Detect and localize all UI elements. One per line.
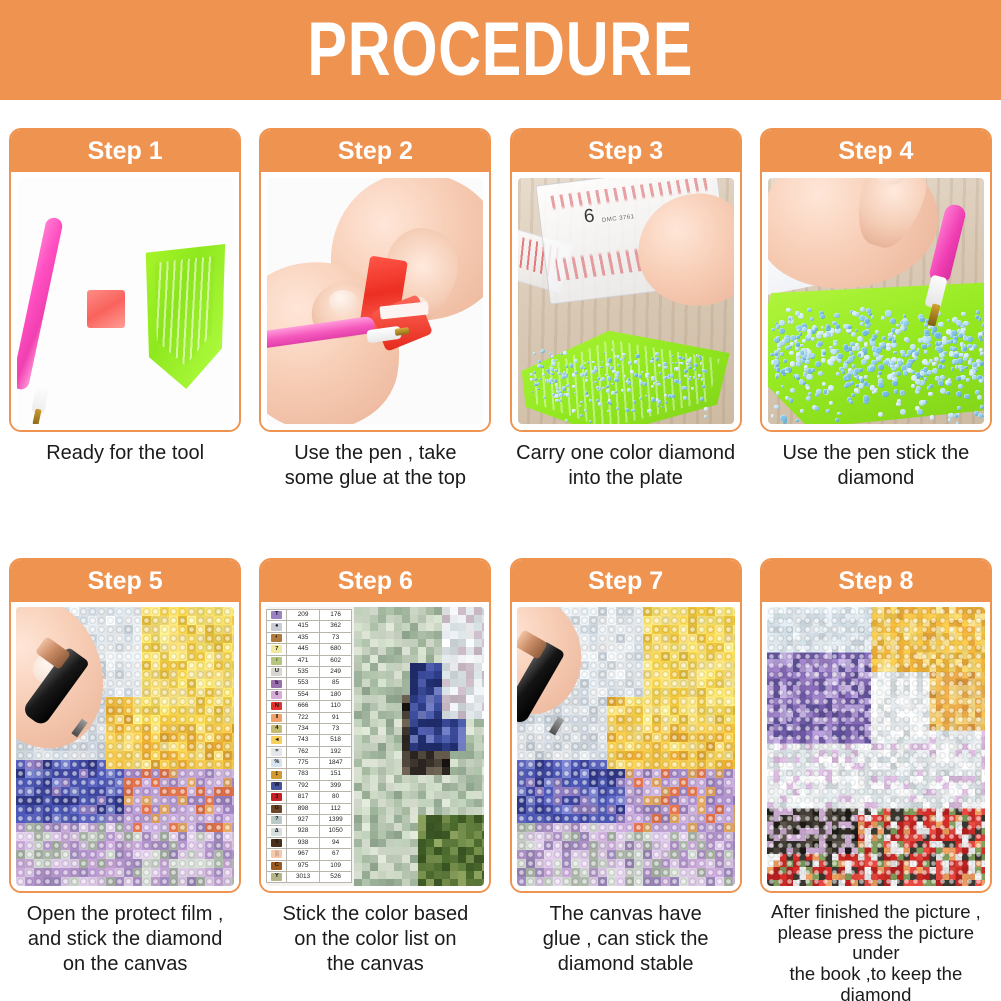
step-7-badge: Step 7: [512, 560, 740, 602]
color-symbol-icon: ♪: [271, 657, 282, 665]
color-swatch-cell: 3: [267, 792, 287, 803]
color-legend-table: T209176●415362◐435737445680♪471602U53524…: [266, 609, 352, 883]
step-4-image-area: [762, 172, 990, 430]
color-swatch-cell: 4: [267, 723, 287, 734]
diamond-count-cell: 526: [319, 871, 352, 882]
page-header-banner: PROCEDURE: [0, 0, 1001, 100]
steps-grid: Step 1 Ready for the tool: [0, 100, 1001, 1001]
diamond-count-cell: 73: [319, 632, 352, 643]
dmc-code-cell: 775: [287, 758, 320, 769]
pour-diamonds-into-tray-photo: 6 DMC 3761: [518, 178, 734, 424]
color-legend-row: G898112: [267, 803, 352, 814]
color-swatch-cell: ◐: [267, 632, 287, 643]
pink-drill-pen-icon: [17, 216, 64, 391]
color-swatch-cell: ‡: [267, 769, 287, 780]
dmc-code-cell: 938: [287, 837, 320, 848]
diamond-count-cell: 399: [319, 780, 352, 791]
color-symbol-icon: ●: [271, 623, 282, 631]
step-card-1: Step 1 Ready for the tool: [0, 128, 250, 491]
color-swatch-cell: ●: [267, 621, 287, 632]
color-symbol-icon: W: [271, 782, 282, 790]
color-swatch-cell: ?: [267, 815, 287, 826]
color-symbol-icon: T: [271, 611, 282, 619]
color-symbol-icon: ◐: [271, 634, 282, 642]
dmc-code-cell: 666: [287, 701, 320, 712]
color-symbol-icon: N: [271, 702, 282, 710]
tools-pen-glue-tray-photo: [17, 178, 233, 424]
dmc-code-cell: 209: [287, 610, 320, 621]
diamond-count-cell: 362: [319, 621, 352, 632]
color-legend-row: %7751847: [267, 758, 352, 769]
page-title: PROCEDURE: [308, 12, 694, 88]
dmc-code-cell: 734: [287, 723, 320, 734]
color-symbol-icon: 4: [271, 725, 282, 733]
dmc-code-cell: 435: [287, 632, 320, 643]
color-swatch-cell: U: [267, 666, 287, 677]
color-legend-row: N666110: [267, 701, 352, 712]
diamond-count-cell: 180: [319, 689, 352, 700]
step-card-6: Step 6 T209176●415362◐435737445680♪47160…: [250, 558, 500, 1001]
step-2-card: Step 2: [259, 128, 491, 432]
dmc-code-cell: 554: [287, 689, 320, 700]
step-4-badge-label: Step 4: [838, 139, 913, 164]
step-8-badge: Step 8: [762, 560, 990, 602]
step-1-badge-label: Step 1: [88, 139, 163, 164]
step-7-badge-label: Step 7: [588, 569, 663, 594]
step-6-caption: Stick the color based on the color list …: [256, 902, 494, 978]
step-6-badge: Step 6: [261, 560, 489, 602]
steps-row-bottom: Step 5 Open the pro: [0, 558, 1001, 1001]
pen-picking-diamond-photo: [768, 178, 984, 424]
dmc-code-cell: 783: [287, 769, 320, 780]
color-symbol-icon: 7: [271, 645, 282, 653]
steps-row-top: Step 1 Ready for the tool: [0, 128, 1001, 491]
hands-pen-glue-photo: [267, 178, 483, 424]
diamond-count-cell: 1050: [319, 826, 352, 837]
dmc-code-cell: 817: [287, 792, 320, 803]
step-2-caption: Use the pen , take some glue at the top: [256, 441, 494, 491]
step-card-2: Step 2: [250, 128, 500, 491]
step-6-card: Step 6 T209176●415362◐435737445680♪47160…: [259, 558, 491, 893]
color-symbol-icon: ∆: [271, 828, 282, 836]
color-swatch-cell: 6: [267, 689, 287, 700]
diamond-count-cell: 1847: [319, 758, 352, 769]
step-1-caption: Ready for the tool: [6, 441, 244, 466]
color-swatch-cell: ░: [267, 849, 287, 860]
color-legend-row: Y3013526: [267, 871, 352, 882]
diamond-count-cell: 176: [319, 610, 352, 621]
dmc-code-cell: 553: [287, 678, 320, 689]
finished-diamond-painting-photo: [767, 607, 985, 886]
color-swatch-cell: Y: [267, 871, 287, 882]
dmc-code-cell: 967: [287, 849, 320, 860]
color-symbol-icon: %: [271, 759, 282, 767]
step-4-caption: Use the pen stick the diamond: [757, 441, 995, 491]
diamond-count-cell: 91: [319, 712, 352, 723]
color-symbol-icon: G: [271, 805, 282, 813]
diamond-count-cell: 112: [319, 803, 352, 814]
color-symbol-icon: C: [271, 862, 282, 870]
dmc-code-cell: 762: [287, 746, 320, 757]
color-legend-row: U535249: [267, 666, 352, 677]
color-legend-row: ◄743518: [267, 735, 352, 746]
step-3-badge-label: Step 3: [588, 139, 663, 164]
step-2-badge: Step 2: [261, 130, 489, 172]
color-symbol-icon: =: [271, 748, 282, 756]
color-swatch-cell: ‖: [267, 712, 287, 723]
step-card-4: Step 4: [751, 128, 1001, 491]
pen-placing-diamond-photo: [517, 607, 735, 886]
step-4-card: Step 4: [760, 128, 992, 432]
diamond-count-cell: 192: [319, 746, 352, 757]
color-swatch-cell: ◄: [267, 735, 287, 746]
color-legend-row: ∆9281050: [267, 826, 352, 837]
color-symbol-icon: 3: [271, 793, 282, 801]
step-7-card: Step 7: [510, 558, 742, 893]
color-legend-row: ◐43573: [267, 632, 352, 643]
step-6-image-area: T209176●415362◐435737445680♪471602U53524…: [261, 602, 489, 891]
step-5-card: Step 5: [9, 558, 241, 893]
dmc-code-cell: 928: [287, 826, 320, 837]
glue-clay-square-icon: [87, 290, 125, 328]
step-6-badge-label: Step 6: [338, 569, 413, 594]
green-tray-icon: [768, 278, 984, 424]
hand-pen-on-canvas-photo: [16, 607, 234, 886]
step-card-3: Step 3 6 DMC 3761: [501, 128, 751, 491]
color-legend-row: ?9271399: [267, 815, 352, 826]
color-symbol-icon: ?: [271, 816, 282, 824]
diamond-count-cell: 110: [319, 701, 352, 712]
diamond-count-cell: 85: [319, 678, 352, 689]
color-symbol-icon: ‖: [271, 714, 282, 722]
diamond-count-cell: 602: [319, 655, 352, 666]
step-3-image-area: 6 DMC 3761: [512, 172, 740, 430]
color-chart-and-canvas-photo: T209176●415362◐435737445680♪471602U53524…: [266, 607, 484, 886]
step-8-card: Step 8: [760, 558, 992, 893]
step-1-badge: Step 1: [11, 130, 239, 172]
color-swatch-cell: b: [267, 678, 287, 689]
color-legend-row: 473473: [267, 723, 352, 734]
color-swatch-cell: G: [267, 803, 287, 814]
step-card-8: Step 8 After finished the picture , plea…: [751, 558, 1001, 1001]
step-2-badge-label: Step 2: [338, 139, 413, 164]
dmc-code-cell: 535: [287, 666, 320, 677]
diamond-count-cell: 151: [319, 769, 352, 780]
color-legend-row: W792399: [267, 780, 352, 791]
step-7-caption: The canvas have glue , can stick the dia…: [507, 902, 745, 978]
step-3-card: Step 3 6 DMC 3761: [510, 128, 742, 432]
dmc-code-cell: 471: [287, 655, 320, 666]
step-5-badge: Step 5: [11, 560, 239, 602]
dmc-code-cell: 722: [287, 712, 320, 723]
color-legend-row: b55385: [267, 678, 352, 689]
step-1-image-area: [11, 172, 239, 430]
color-symbol-icon: U: [271, 668, 282, 676]
step-card-5: Step 5 Open the pro: [0, 558, 250, 1001]
dmc-code-cell: 927: [287, 815, 320, 826]
color-symbol-icon: ‡: [271, 771, 282, 779]
bag-number-label: 6: [582, 205, 595, 228]
color-legend-row: 593894: [267, 837, 352, 848]
dmc-code-cell: 445: [287, 644, 320, 655]
step-5-badge-label: Step 5: [88, 569, 163, 594]
color-symbol-icon: b: [271, 680, 282, 688]
step-5-image-area: [11, 602, 239, 891]
color-swatch-cell: W: [267, 780, 287, 791]
color-legend-row: C975109: [267, 860, 352, 871]
step-8-badge-label: Step 8: [838, 569, 913, 594]
diamond-count-cell: 73: [319, 723, 352, 734]
diamond-count-cell: 680: [319, 644, 352, 655]
step-1-card: Step 1: [9, 128, 241, 432]
color-symbol-icon: Y: [271, 873, 282, 881]
color-symbol-icon: ░: [271, 850, 282, 858]
color-symbol-icon: ◄: [271, 736, 282, 744]
step-7-image-area: [512, 602, 740, 891]
color-legend-row: ░96767: [267, 849, 352, 860]
color-legend-row: ‖72291: [267, 712, 352, 723]
color-swatch-cell: 5: [267, 837, 287, 848]
step-8-caption: After finished the picture , please pres…: [753, 902, 999, 1001]
diamond-count-cell: 249: [319, 666, 352, 677]
diamond-count-cell: 94: [319, 837, 352, 848]
color-swatch-cell: N: [267, 701, 287, 712]
diamond-bead-texture-icon: [767, 607, 985, 886]
diamond-count-cell: 518: [319, 735, 352, 746]
procedure-infographic: PROCEDURE Step 1: [0, 0, 1001, 1001]
step-card-7: Step 7 The canvas have glue , can: [501, 558, 751, 1001]
color-legend-row: ♪471602: [267, 655, 352, 666]
color-legend-row: 6554180: [267, 689, 352, 700]
color-swatch-cell: ♪: [267, 655, 287, 666]
dmc-code-cell: 415: [287, 621, 320, 632]
dmc-color-legend: T209176●415362◐435737445680♪471602U53524…: [266, 607, 355, 886]
diamond-count-cell: 80: [319, 792, 352, 803]
color-swatch-cell: T: [267, 610, 287, 621]
dmc-code-cell: 3013: [287, 871, 320, 882]
color-symbol-icon: 6: [271, 691, 282, 699]
diamond-mosaic-canvas-icon: [354, 607, 484, 886]
diamond-count-cell: 67: [319, 849, 352, 860]
step-8-image-area: [762, 602, 990, 891]
color-swatch-cell: ∆: [267, 826, 287, 837]
step-3-caption: Carry one color diamond into the plate: [507, 441, 745, 491]
dmc-code-cell: 975: [287, 860, 320, 871]
step-5-caption: Open the protect film , and stick the di…: [6, 902, 244, 978]
color-legend-row: ‡783151: [267, 769, 352, 780]
color-legend-row: T209176: [267, 610, 352, 621]
color-legend-row: 7445680: [267, 644, 352, 655]
color-legend-row: =762192: [267, 746, 352, 757]
dmc-code-cell: 743: [287, 735, 320, 746]
diamond-count-cell: 1399: [319, 815, 352, 826]
color-swatch-cell: %: [267, 758, 287, 769]
step-3-badge: Step 3: [512, 130, 740, 172]
color-legend-row: ●415362: [267, 621, 352, 632]
step-2-image-area: [261, 172, 489, 430]
step-4-badge: Step 4: [762, 130, 990, 172]
dmc-code-cell: 898: [287, 803, 320, 814]
diamond-count-cell: 109: [319, 860, 352, 871]
color-legend-row: 381780: [267, 792, 352, 803]
color-symbol-icon: 5: [271, 839, 282, 847]
color-swatch-cell: 7: [267, 644, 287, 655]
color-swatch-cell: C: [267, 860, 287, 871]
color-swatch-cell: =: [267, 746, 287, 757]
dmc-code-cell: 792: [287, 780, 320, 791]
